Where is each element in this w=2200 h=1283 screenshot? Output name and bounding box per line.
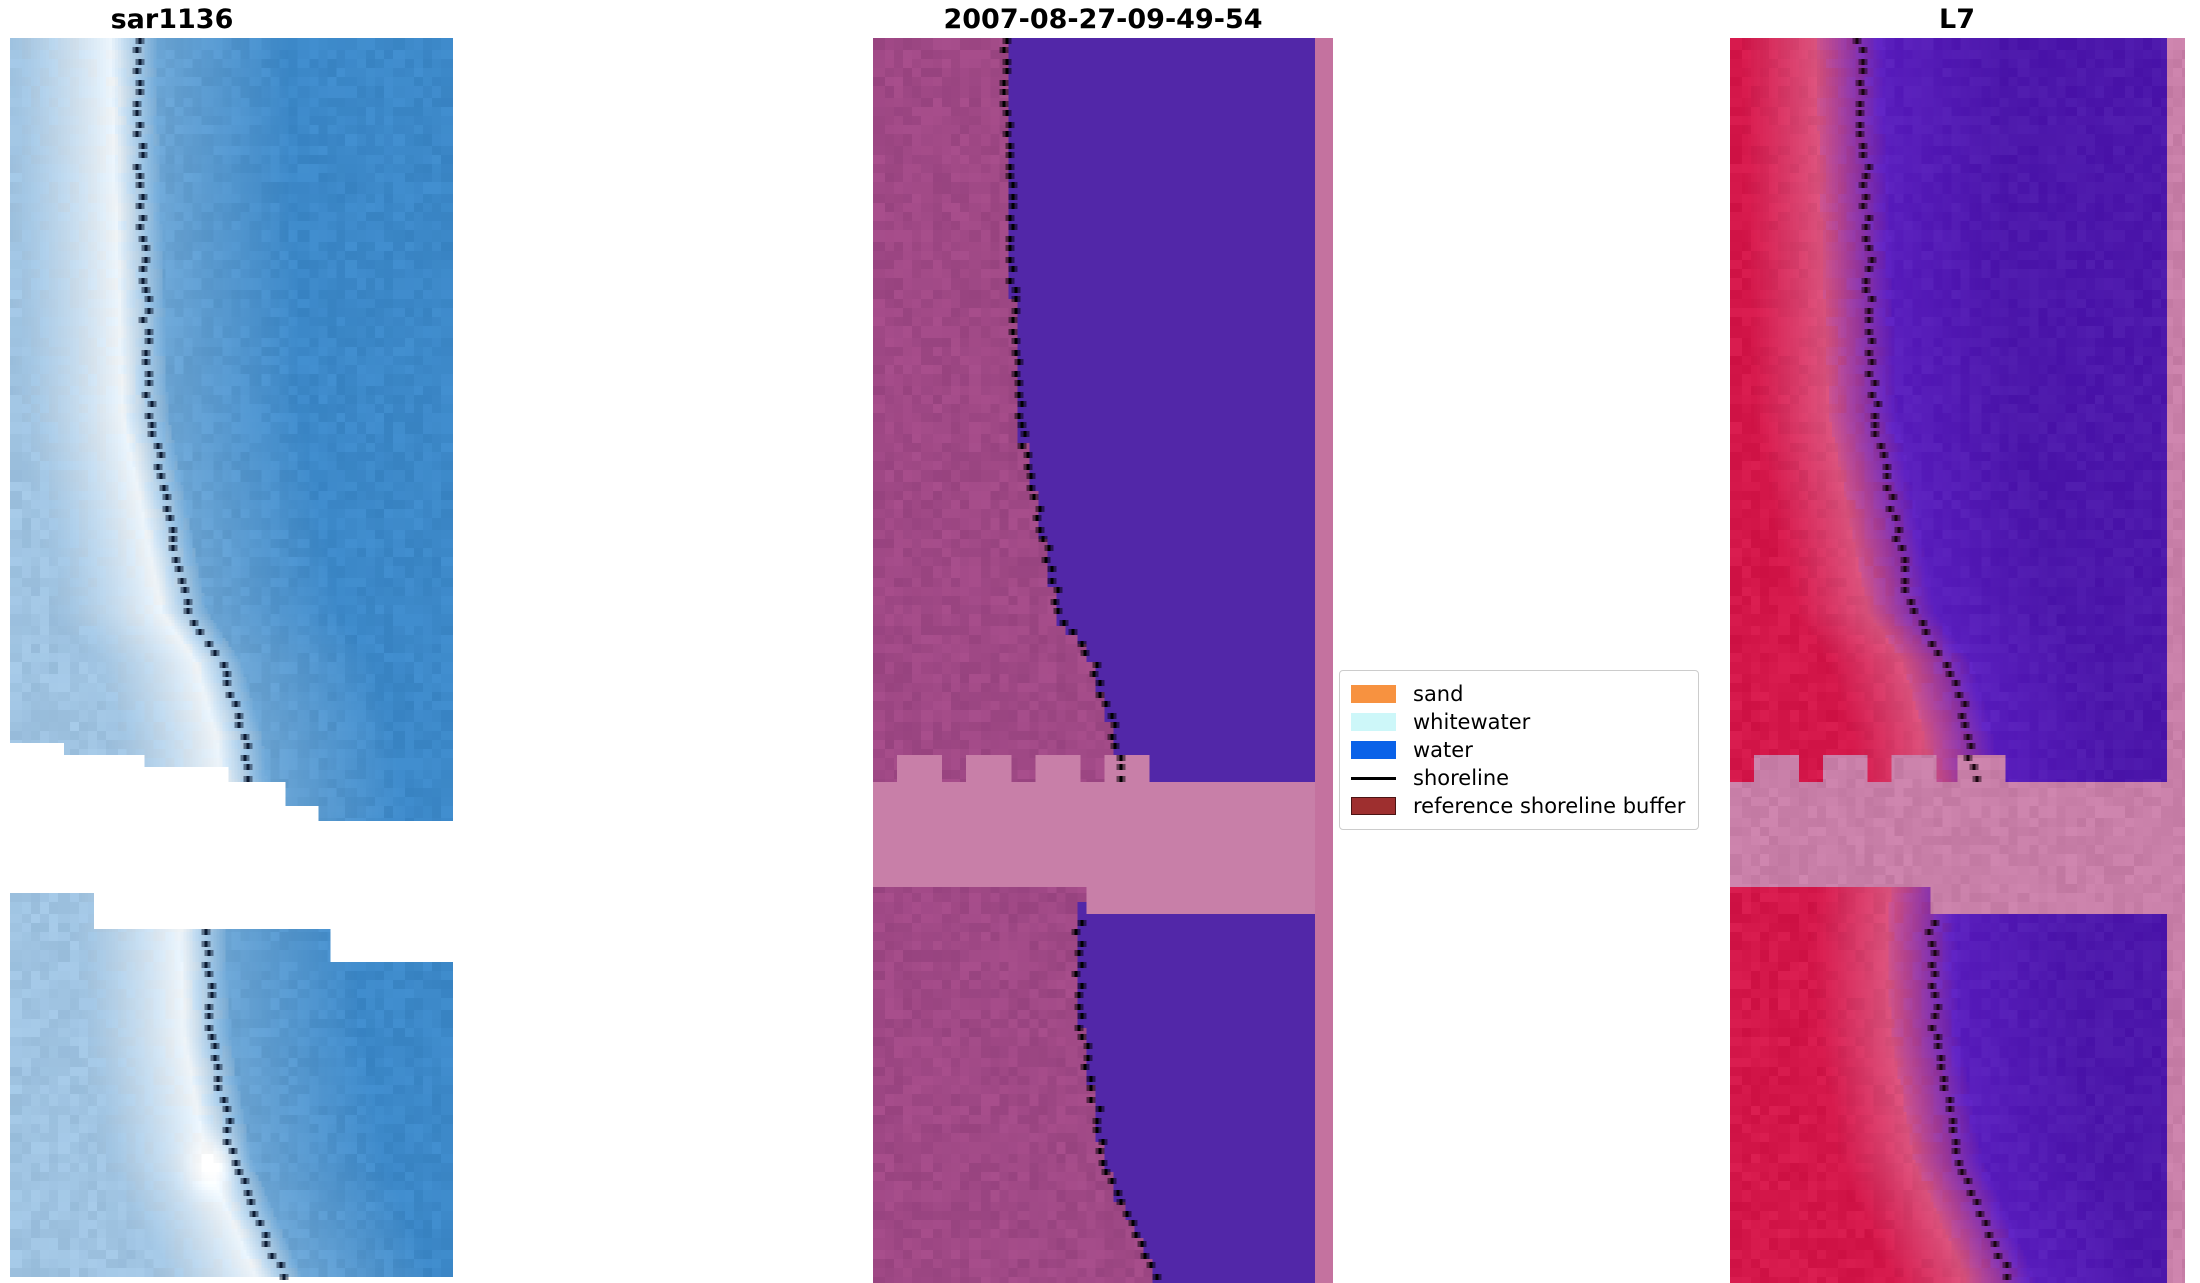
l7-raster — [1730, 38, 2185, 1283]
legend-label-shoreline: shoreline — [1413, 766, 1509, 790]
classification-raster — [873, 38, 1333, 1283]
panel-title-l7: L7 — [1657, 4, 2200, 36]
legend-label-sand: sand — [1413, 682, 1463, 706]
legend-item-shoreline: shoreline — [1351, 764, 1685, 792]
reference-buffer-swatch-icon — [1351, 797, 1396, 815]
whitewater-swatch-icon — [1351, 713, 1396, 731]
legend-label-reference-buffer: reference shoreline buffer — [1413, 794, 1685, 818]
sar-raster — [10, 38, 453, 1283]
legend-item-whitewater: whitewater — [1351, 708, 1685, 736]
legend-item-water: water — [1351, 736, 1685, 764]
legend-label-water: water — [1413, 738, 1473, 762]
legend-item-reference-buffer: reference shoreline buffer — [1351, 792, 1685, 820]
water-swatch-icon — [1351, 741, 1396, 759]
legend-item-sand: sand — [1351, 680, 1685, 708]
panel-title-sar: sar1136 — [0, 4, 472, 36]
panel-title-date: 2007-08-27-09-49-54 — [803, 4, 1403, 36]
l7-image-panel[interactable] — [1730, 38, 2185, 1283]
map-legend[interactable]: sand whitewater water shoreline referenc… — [1339, 670, 1699, 830]
shoreline-line-icon — [1351, 769, 1396, 787]
classified-image-panel[interactable] — [873, 38, 1333, 1283]
sand-swatch-icon — [1351, 685, 1396, 703]
sar-image-panel[interactable] — [10, 38, 453, 1283]
legend-label-whitewater: whitewater — [1413, 710, 1530, 734]
